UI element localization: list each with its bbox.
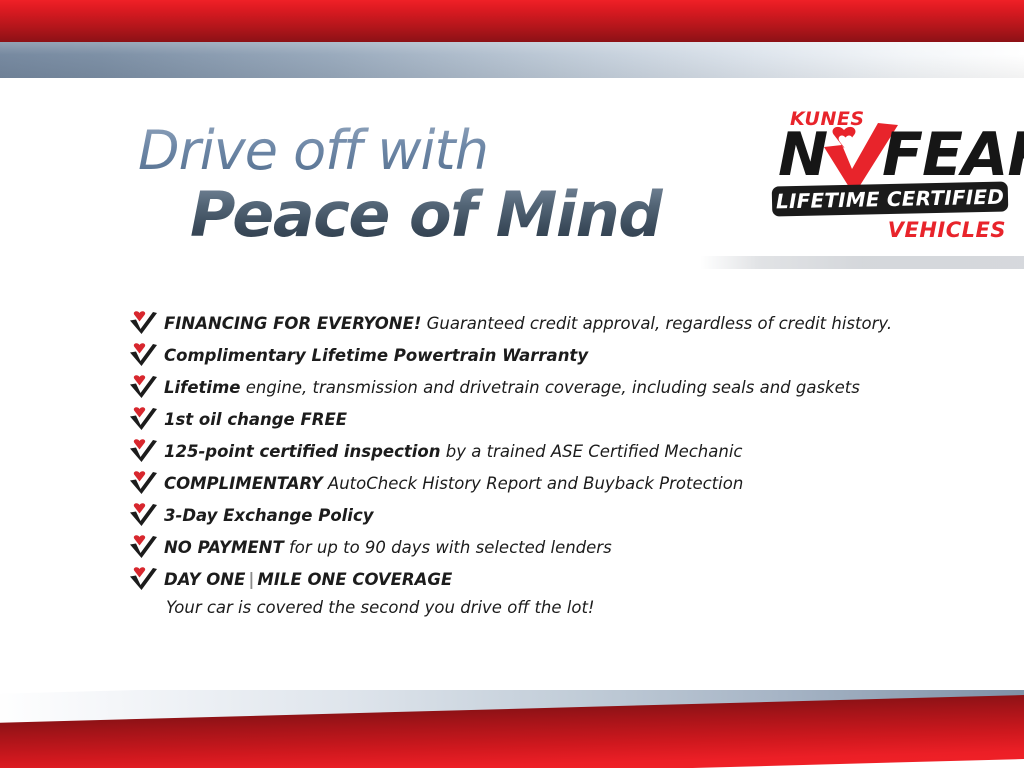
heart-checkmark-bullet-icon <box>128 535 158 559</box>
benefit-highlight: COMPLIMENTARY <box>164 474 323 493</box>
bottom-band-group <box>0 690 1024 768</box>
heart-checkmark-bullet-icon <box>128 407 158 431</box>
benefit-highlight: 1st oil change FREE <box>164 410 347 429</box>
headline-divider <box>700 256 1024 269</box>
top-red-band <box>0 0 1024 42</box>
headline-line-1: Drive off with <box>138 122 738 180</box>
heart-checkmark-bullet-icon <box>128 439 158 463</box>
benefit-item: 125-point certified inspection by a trai… <box>128 436 928 468</box>
benefit-text: Complimentary Lifetime Powertrain Warran… <box>164 340 928 372</box>
benefit-highlight: Lifetime <box>164 378 240 397</box>
benefit-highlight: 3-Day Exchange Policy <box>164 506 374 525</box>
benefit-item: Complimentary Lifetime Powertrain Warran… <box>128 340 928 372</box>
benefit-highlight: Complimentary Lifetime Powertrain Warran… <box>164 346 588 365</box>
logo-vehicles-text: VEHICLES <box>888 218 1006 242</box>
benefit-item: COMPLIMENTARY AutoCheck History Report a… <box>128 468 928 500</box>
benefit-check-icon <box>128 375 158 399</box>
headline-block: Drive off with Peace of Mind <box>138 122 738 248</box>
kunes-no-fear-logo: KUNES N FEAR LIFETIME CERTIFIED VEHICLES <box>772 108 1010 246</box>
heart-checkmark-bullet-icon <box>128 567 158 591</box>
benefit-item: 1st oil change FREE <box>128 404 928 436</box>
benefit-highlight: FINANCING FOR EVERYONE! <box>164 314 421 333</box>
benefit-item: Lifetime engine, transmission and drivet… <box>128 372 928 404</box>
benefit-check-icon <box>128 343 158 367</box>
benefits-list: FINANCING FOR EVERYONE! Guaranteed credi… <box>128 308 928 620</box>
benefit-highlight: 125-point certified inspection <box>164 442 441 461</box>
benefit-check-icon <box>128 567 158 591</box>
headline-line-2: Peace of Mind <box>190 182 738 248</box>
benefit-detail: by a trained ASE Certified Mechanic <box>441 442 743 461</box>
benefit-check-icon <box>128 503 158 527</box>
benefit-highlight: DAY ONE <box>164 570 245 589</box>
benefit-text: Lifetime engine, transmission and drivet… <box>164 372 928 404</box>
benefit-item: DAY ONE|MILE ONE COVERAGEYour car is cov… <box>128 564 928 620</box>
benefit-text: NO PAYMENT for up to 90 days with select… <box>164 532 928 564</box>
benefit-check-icon <box>128 311 158 335</box>
logo-nofear-wordmark: N FEAR <box>774 125 1010 187</box>
benefit-text: 125-point certified inspection by a trai… <box>164 436 928 468</box>
benefit-detail: AutoCheck History Report and Buyback Pro… <box>323 474 744 493</box>
benefit-separator: | <box>245 570 257 589</box>
heart-checkmark-bullet-icon <box>128 343 158 367</box>
benefit-highlight-secondary: MILE ONE COVERAGE <box>257 570 452 589</box>
benefit-check-icon <box>128 439 158 463</box>
heart-checkmark-bullet-icon <box>128 471 158 495</box>
benefit-item: NO PAYMENT for up to 90 days with select… <box>128 532 928 564</box>
benefit-item: 3-Day Exchange Policy <box>128 500 928 532</box>
benefit-detail: for up to 90 days with selected lenders <box>284 538 612 557</box>
benefit-detail: engine, transmission and drivetrain cove… <box>240 378 859 397</box>
logo-lifetime-certified-bar <box>772 182 1009 217</box>
benefit-subline: Your car is covered the second you drive… <box>164 596 928 620</box>
benefit-text: COMPLIMENTARY AutoCheck History Report a… <box>164 468 928 500</box>
benefit-check-icon <box>128 535 158 559</box>
benefit-highlight: NO PAYMENT <box>164 538 284 557</box>
benefit-text: 3-Day Exchange Policy <box>164 500 928 532</box>
logo-word-fear: FEAR <box>882 125 1024 185</box>
benefit-check-icon <box>128 471 158 495</box>
benefit-item: FINANCING FOR EVERYONE! Guaranteed credi… <box>128 308 928 340</box>
advertisement-canvas: Drive off with Peace of Mind KUNES N FEA… <box>0 0 1024 768</box>
benefit-text: DAY ONE|MILE ONE COVERAGE <box>164 564 928 596</box>
benefit-text: 1st oil change FREE <box>164 404 928 436</box>
heart-checkmark-bullet-icon <box>128 311 158 335</box>
top-gray-band-sheen <box>0 42 1024 78</box>
benefit-text: FINANCING FOR EVERYONE! Guaranteed credi… <box>164 308 928 340</box>
heart-checkmark-bullet-icon <box>128 375 158 399</box>
heart-checkmark-bullet-icon <box>128 503 158 527</box>
benefit-check-icon <box>128 407 158 431</box>
benefit-detail: Guaranteed credit approval, regardless o… <box>421 314 892 333</box>
